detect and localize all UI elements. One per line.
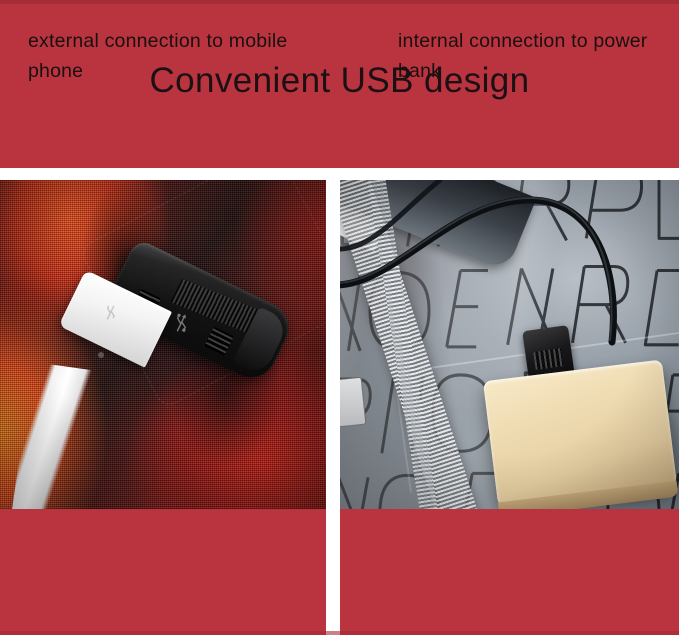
photo-right-canvas bbox=[340, 180, 679, 509]
photo-internal-power-bank bbox=[340, 180, 679, 509]
left-photo-vignette bbox=[0, 180, 326, 509]
caption-internal-connection: internal connection to power bank bbox=[398, 26, 668, 86]
product-feature-poster: Convenient USB design bbox=[0, 0, 679, 635]
caption-band-right bbox=[336, 509, 679, 635]
gold-power-bank bbox=[483, 360, 677, 507]
caption-external-connection: external connection to mobile phone bbox=[28, 26, 318, 86]
poster-bottom-rule bbox=[0, 631, 679, 635]
caption-band-left bbox=[0, 509, 331, 635]
photo-external-usb-port bbox=[0, 180, 326, 509]
panel-divider-caption bbox=[331, 509, 336, 635]
photo-left-canvas bbox=[0, 180, 326, 509]
